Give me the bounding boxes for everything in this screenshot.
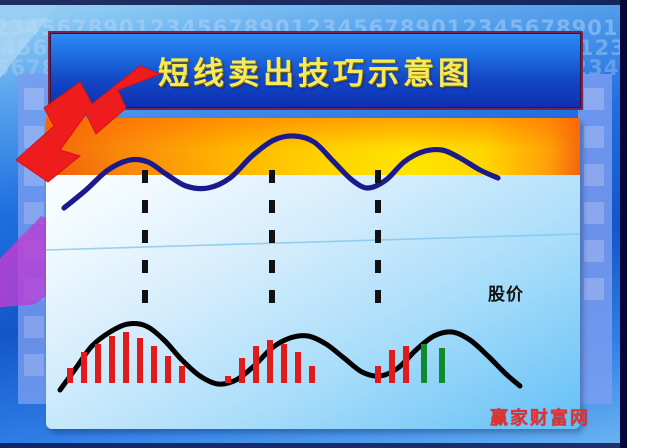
filmstrip-perforation xyxy=(584,202,604,224)
macd-bar xyxy=(439,348,445,383)
macd-bar xyxy=(109,336,115,383)
macd-bar xyxy=(309,366,315,383)
slide-root: 2345678901234567890123456789012345678901… xyxy=(0,0,657,448)
slide-top-edge xyxy=(0,0,627,5)
filmstrip-perforation xyxy=(24,316,44,338)
macd-bar xyxy=(375,366,381,383)
filmstrip-perforation xyxy=(584,278,604,300)
filmstrip-perforation xyxy=(584,126,604,148)
macd-bar xyxy=(151,346,157,383)
page-margin-right xyxy=(627,0,657,448)
macd-bar xyxy=(137,338,143,383)
macd-bar xyxy=(165,356,171,383)
slide-background: 2345678901234567890123456789012345678901… xyxy=(0,0,627,448)
macd-bar xyxy=(281,344,287,383)
price-label: 股价 xyxy=(488,280,524,305)
macd-bar xyxy=(267,340,273,383)
macd-bar xyxy=(67,368,73,383)
macd-bar xyxy=(225,376,231,383)
macd-bar xyxy=(253,346,259,383)
red-zigzag-up-arrow-icon xyxy=(8,64,178,184)
macd-bar xyxy=(421,344,427,383)
macd-bar xyxy=(81,352,87,383)
page-title: 短线卖出技巧示意图 xyxy=(158,48,473,93)
filmstrip-perforation xyxy=(24,354,44,376)
slide-right-edge xyxy=(620,0,627,448)
filmstrip-perforation xyxy=(584,164,604,186)
macd-bar xyxy=(179,366,185,383)
slide-bottom-edge xyxy=(0,443,627,448)
macd-bar xyxy=(239,358,245,383)
macd-bar xyxy=(295,352,301,383)
macd-bar xyxy=(95,344,101,383)
macd-bar xyxy=(403,346,409,383)
filmstrip-perforation xyxy=(584,88,604,110)
macd-bar xyxy=(389,350,395,383)
macd-bar xyxy=(123,332,129,383)
faint-trend-line xyxy=(46,234,580,250)
vertical-dashed-markers xyxy=(145,170,378,308)
filmstrip-right-decoration xyxy=(578,74,612,404)
site-watermark: 赢家财富网 xyxy=(490,404,590,430)
filmstrip-perforation xyxy=(584,240,604,262)
